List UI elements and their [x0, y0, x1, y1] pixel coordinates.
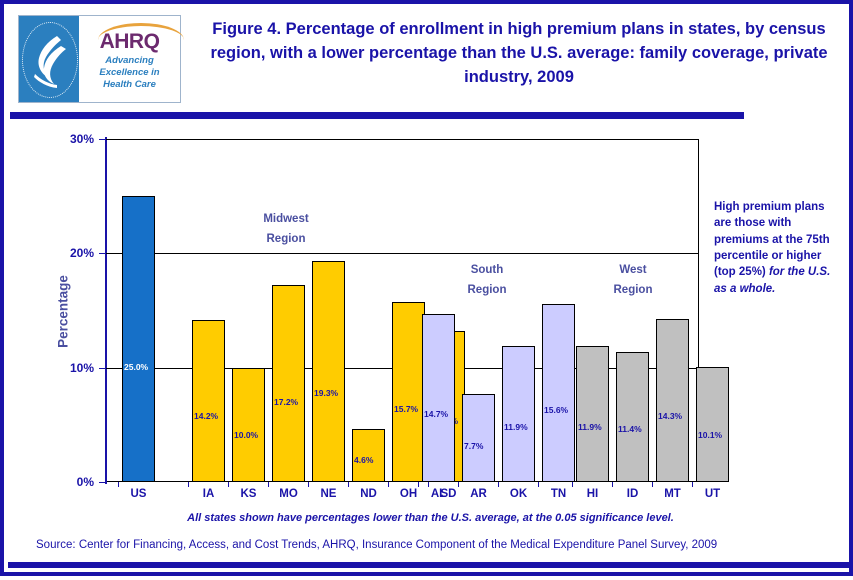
x-tick	[388, 482, 389, 487]
bar-ID	[616, 352, 649, 482]
y-tick	[99, 253, 106, 254]
figure-page: AHRQ Advancing Excellence in Health Care…	[0, 0, 853, 576]
figure-footnote: All states shown have percentages lower …	[4, 512, 853, 524]
x-axis-label-UT: UT	[688, 488, 737, 500]
region-label-line1: West	[578, 260, 688, 280]
bar-IA	[192, 320, 225, 482]
x-axis-label-AL: AL	[414, 488, 463, 500]
bar-value-MT: 14.3%	[658, 411, 682, 421]
side-note: High premium plans are those with premiu…	[714, 199, 844, 297]
bar-ND	[352, 429, 385, 482]
x-axis-label-KS: KS	[224, 488, 273, 500]
bar-value-TN: 15.6%	[544, 405, 568, 415]
x-tick	[418, 482, 419, 487]
ahrq-arc-icon	[98, 23, 184, 40]
bar-value-AR: 7.7%	[464, 441, 483, 451]
x-axis-label-US: US	[114, 488, 163, 500]
region-label-line2: Region	[578, 280, 688, 300]
y-axis-label-0%: 0%	[34, 475, 94, 489]
x-axis-label-AR: AR	[454, 488, 503, 500]
x-axis-label-TN: TN	[534, 488, 583, 500]
x-tick	[228, 482, 229, 487]
x-tick	[692, 482, 693, 487]
x-axis-label-NE: NE	[304, 488, 353, 500]
x-tick	[458, 482, 459, 487]
x-tick	[538, 482, 539, 487]
ahrq-tagline-3: Health Care	[99, 79, 159, 91]
bar-AL	[422, 314, 455, 482]
x-axis-label-IA: IA	[184, 488, 233, 500]
ahrq-tagline-2: Excellence in	[99, 67, 159, 79]
y-axis-label-30%: 30%	[34, 132, 94, 146]
bar-UT	[696, 367, 729, 482]
region-label-midwest: MidwestRegion	[231, 209, 341, 249]
bar-value-SD: 13.2%	[434, 416, 458, 426]
x-axis-label-ND: ND	[344, 488, 393, 500]
gridline-10%	[105, 368, 699, 369]
ahrq-tagline-1: Advancing	[99, 55, 159, 67]
ahrq-wordmark: AHRQ Advancing Excellence in Health Care	[79, 16, 180, 102]
x-axis-label-OK: OK	[494, 488, 543, 500]
bar-value-ID: 11.4%	[618, 424, 642, 434]
x-tick	[308, 482, 309, 487]
y-axis-title: Percentage	[56, 247, 71, 377]
region-label-line2: Region	[231, 229, 341, 249]
bar-TN	[542, 304, 575, 482]
bar-value-OH: 15.7%	[394, 404, 418, 414]
region-label-west: WestRegion	[578, 260, 688, 300]
figure-source: Source: Center for Financing, Access, an…	[36, 539, 836, 551]
y-tick	[99, 482, 106, 483]
bar-SD	[432, 331, 465, 482]
region-label-line1: South	[432, 260, 542, 280]
x-tick	[428, 482, 429, 487]
x-tick	[612, 482, 613, 487]
bar-value-HI: 11.9%	[578, 422, 602, 432]
bar-OK	[502, 346, 535, 482]
region-label-line1: Midwest	[231, 209, 341, 229]
x-axis-label-HI: HI	[568, 488, 617, 500]
x-tick	[348, 482, 349, 487]
bar-OH	[392, 302, 425, 482]
x-axis-label-MO: MO	[264, 488, 313, 500]
bar-KS	[232, 368, 265, 482]
y-axis-line	[105, 137, 107, 484]
region-label-line2: Region	[432, 280, 542, 300]
x-axis-label-ID: ID	[608, 488, 657, 500]
bar-US	[122, 196, 155, 482]
y-axis-label-20%: 20%	[34, 246, 94, 260]
x-tick	[118, 482, 119, 487]
header-divider	[10, 112, 744, 119]
x-axis-label-SD: SD	[424, 488, 473, 500]
bar-MO	[272, 285, 305, 482]
x-tick	[572, 482, 573, 487]
gridline-20%	[105, 253, 699, 254]
hhs-seal-icon	[19, 16, 79, 102]
bar-AR	[462, 394, 495, 482]
bar-value-AL: 14.7%	[424, 409, 448, 419]
bar-value-UT: 10.1%	[698, 430, 722, 440]
bar-value-MO: 17.2%	[274, 397, 298, 407]
x-tick	[268, 482, 269, 487]
y-tick	[99, 139, 106, 140]
x-tick	[498, 482, 499, 487]
ahrq-acronym: AHRQ	[100, 31, 160, 52]
x-axis-label-OH: OH	[384, 488, 433, 500]
bar-HI	[576, 346, 609, 482]
figure-header: AHRQ Advancing Excellence in Health Care…	[8, 8, 853, 108]
x-tick	[188, 482, 189, 487]
x-tick	[652, 482, 653, 487]
gridline-30%	[105, 139, 699, 140]
bar-NE	[312, 261, 345, 482]
ahrq-logo: AHRQ Advancing Excellence in Health Care	[18, 15, 181, 103]
ahrq-tagline: Advancing Excellence in Health Care	[99, 55, 159, 91]
bar-value-IA: 14.2%	[194, 411, 218, 421]
footer-divider	[8, 562, 853, 568]
figure-title: Figure 4. Percentage of enrollment in hi…	[194, 18, 844, 90]
bar-MT	[656, 319, 689, 482]
y-axis-label-10%: 10%	[34, 361, 94, 375]
x-axis-label-MT: MT	[648, 488, 697, 500]
y-tick	[99, 368, 106, 369]
bar-value-OK: 11.9%	[504, 422, 528, 432]
bar-value-ND: 4.6%	[354, 455, 373, 465]
bar-value-NE: 19.3%	[314, 388, 338, 398]
plot-area	[105, 139, 699, 482]
region-label-south: SouthRegion	[432, 260, 542, 300]
bar-value-KS: 10.0%	[234, 430, 258, 440]
bar-value-US: 25.0%	[124, 362, 148, 372]
